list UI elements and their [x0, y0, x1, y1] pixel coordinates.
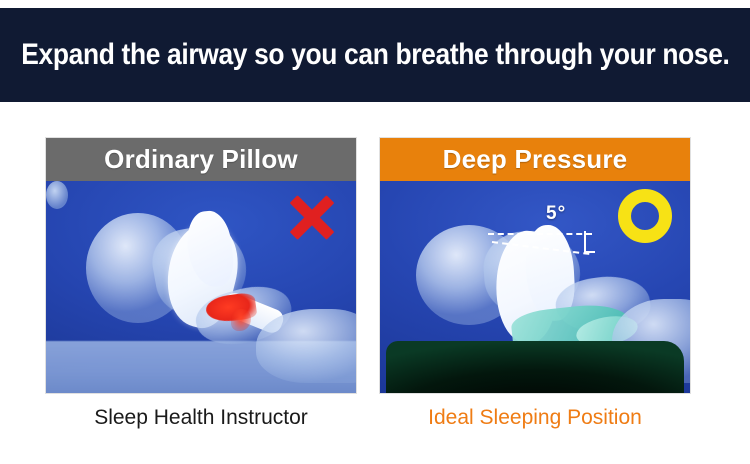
- torso-shape: [256, 309, 356, 383]
- comparison-panels: Ordinary Pillow 5°: [0, 138, 750, 393]
- angle-dashed-line-upper: [488, 233, 592, 235]
- angle-tick-icon: [584, 231, 595, 253]
- o-mark-icon: [618, 189, 672, 243]
- panel-captions: Sleep Health Instructor Ideal Sleeping P…: [0, 400, 750, 444]
- headline-text: Expand the airway so you can breathe thr…: [21, 38, 729, 72]
- contour-pillow-core: [386, 341, 684, 393]
- panel-ordinary-pillow: Ordinary Pillow: [46, 138, 356, 393]
- panel-header-deep-pressure: Deep Pressure: [380, 138, 690, 181]
- angle-guide-lines: [488, 229, 620, 263]
- caption-ordinary-pillow: Sleep Health Instructor: [46, 400, 356, 436]
- scene-ordinary-pillow: [46, 181, 356, 393]
- panel-header-label-deep-pressure: Deep Pressure: [443, 144, 628, 175]
- angle-label: 5°: [546, 203, 566, 225]
- caption-deep-pressure: Ideal Sleeping Position: [380, 400, 690, 436]
- panel-header-ordinary: Ordinary Pillow: [46, 138, 356, 181]
- headline-banner: Expand the airway so you can breathe thr…: [0, 8, 750, 102]
- panel-deep-pressure: 5° Deep Pressure: [380, 138, 690, 393]
- x-mark-icon: [286, 191, 338, 243]
- angle-dashed-line-lower: [492, 241, 590, 255]
- panel-header-label-ordinary: Ordinary Pillow: [104, 144, 298, 175]
- ear-shape: [46, 181, 68, 209]
- scene-deep-pressure: 5°: [380, 181, 690, 393]
